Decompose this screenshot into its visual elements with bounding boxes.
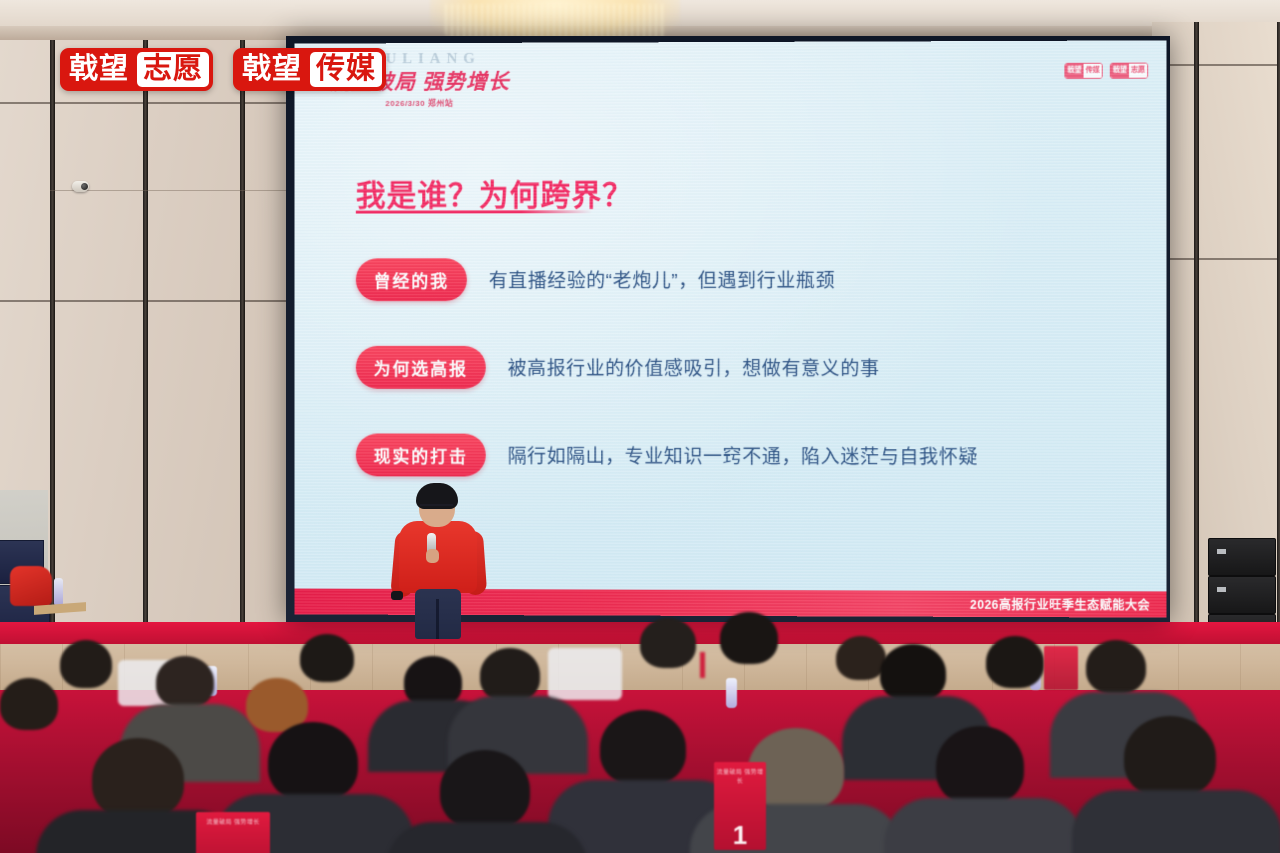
slide-logo-date: 2026/3/30 郑州站 — [320, 98, 518, 110]
slide-logo-zhiyuan-secondary: 志愿 — [1129, 64, 1147, 78]
slide-row-badge: 为何选高报 — [356, 346, 486, 389]
table-card-caption: 流量破局 强势增长 — [196, 817, 270, 826]
table-number-card: 流量破局 强势增长 1 — [714, 762, 766, 850]
watermark-primary-text: 戟望 — [64, 52, 134, 87]
slide-logo-zhiyuan: 戟望 志愿 — [1110, 63, 1148, 79]
slide-title: 我是谁？为何跨界？ — [356, 170, 633, 214]
slide-logo-zhiyuan-primary: 戟望 — [1111, 64, 1129, 78]
watermark-logos: 戟望 志愿 戟望 传媒 — [60, 48, 386, 91]
slide-logo-chuanmei: 戟望 传媒 — [1064, 63, 1102, 79]
slide-row-text: 有直播经验的“老炮儿”，但遇到行业瓶颈 — [489, 266, 835, 293]
glasses-icon — [420, 504, 453, 514]
slide-corner-logos: 戟望 传媒 戟望 志愿 — [1064, 63, 1148, 79]
slide-logo-chuanmei-primary: 戟望 — [1065, 64, 1083, 78]
screenshot-root: LIULIANG 流量破局 强势增长 2026/3/30 郑州站 戟望 传媒 戟… — [0, 0, 1280, 853]
ceiling-camera-icon — [72, 181, 89, 192]
presentation-clicker — [391, 591, 403, 600]
slide-bullet-list: 曾经的我 有直播经验的“老炮儿”，但遇到行业瓶颈 为何选高报 被高报行业的价值感… — [356, 258, 1138, 523]
slide-row: 为何选高报 被高报行业的价值感吸引，想做有意义的事 — [356, 346, 1138, 389]
table-card-number: 1 — [733, 822, 747, 850]
slide-row-text: 隔行如隔山，专业知识一窍不通，陷入迷茫与自我怀疑 — [508, 442, 978, 470]
table-number-card: 流量破局 强势增长 — [196, 812, 270, 853]
table-number-card — [1044, 646, 1078, 690]
slide-row-badge: 曾经的我 — [356, 258, 467, 301]
table-card-caption: 流量破局 强势增长 — [714, 767, 766, 785]
slide-logo-chuanmei-secondary: 传媒 — [1084, 64, 1102, 78]
slide-row: 曾经的我 有直播经验的“老炮儿”，但遇到行业瓶颈 — [356, 258, 1138, 302]
line-array-speaker — [1208, 538, 1276, 576]
slide-row: 现实的打击 隔行如隔山，专业知识一窍不通，陷入迷茫与自我怀疑 — [356, 433, 1138, 477]
watermark-secondary-text: 传媒 — [310, 52, 382, 87]
slide-title-underline — [356, 210, 592, 213]
watermark-secondary-text: 志愿 — [137, 52, 209, 87]
audience-area: 流量破局 强势增长 1 流量破局 强势增长 — [0, 600, 1280, 853]
slide-row-badge: 现实的打击 — [356, 433, 486, 476]
watermark-zaiwang-chuanmei: 戟望 传媒 — [233, 48, 386, 91]
watermark-primary-text: 戟望 — [237, 52, 307, 87]
slide-row-text: 被高报行业的价值感吸引，想做有意义的事 — [508, 354, 880, 381]
watermark-zaiwang-zhiyuan: 戟望 志愿 — [60, 48, 213, 91]
presenter-hand — [426, 549, 439, 563]
